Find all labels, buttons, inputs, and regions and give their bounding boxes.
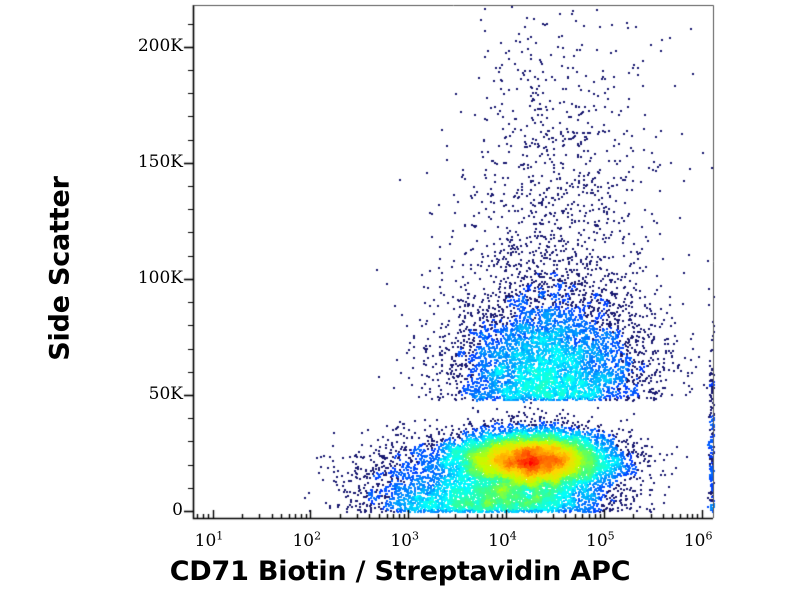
x-axis-title: CD71 Biotin / Streptavidin APC xyxy=(0,556,800,587)
x-tick-label-2: 102 xyxy=(292,531,321,551)
x-tick-label-5: 105 xyxy=(586,531,615,551)
y-tick-label-200000: 200K xyxy=(135,36,183,56)
x-tick-label-1: 101 xyxy=(195,531,224,551)
x-tick-label-3: 103 xyxy=(390,531,419,551)
y-tick-label-50000: 50K xyxy=(135,384,183,404)
y-tick-label-100000: 100K xyxy=(135,268,183,288)
x-tick-label-4: 104 xyxy=(488,531,517,551)
flow-cytometry-figure: Side Scatter CD71 Biotin / Streptavidin … xyxy=(0,0,800,600)
scatter-plot-canvas xyxy=(0,0,800,600)
x-tick-label-6: 106 xyxy=(684,531,713,551)
y-axis-title: Side Scatter xyxy=(45,149,76,389)
y-tick-label-150000: 150K xyxy=(135,152,183,172)
y-tick-label-0: 0 xyxy=(135,500,183,520)
